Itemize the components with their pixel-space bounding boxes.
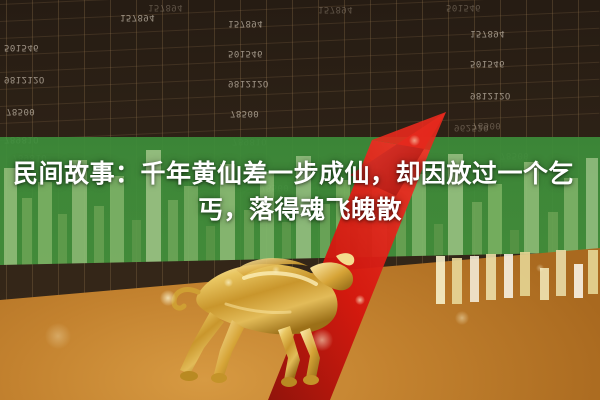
cover-image: 157894501546157894501546981212O501546157… xyxy=(0,0,600,400)
bokeh-dot xyxy=(45,323,71,349)
bokeh-dot xyxy=(409,135,420,146)
bokeh-dot xyxy=(160,290,176,306)
bokeh-dot xyxy=(311,329,333,351)
title-line-1: 民间故事：千年黄仙差一步成仙，却因放过一个乞 xyxy=(0,156,600,192)
bokeh-dot xyxy=(224,278,233,287)
bokeh-dot xyxy=(272,266,280,274)
title-overlay: 民间故事：千年黄仙差一步成仙，却因放过一个乞 丐，落得魂飞魄散 xyxy=(0,156,600,228)
bokeh-dot xyxy=(455,311,469,325)
title-line-2: 丐，落得魂飞魄散 xyxy=(0,192,600,228)
bokeh-dot xyxy=(536,264,544,272)
bokeh-dot xyxy=(355,295,365,305)
